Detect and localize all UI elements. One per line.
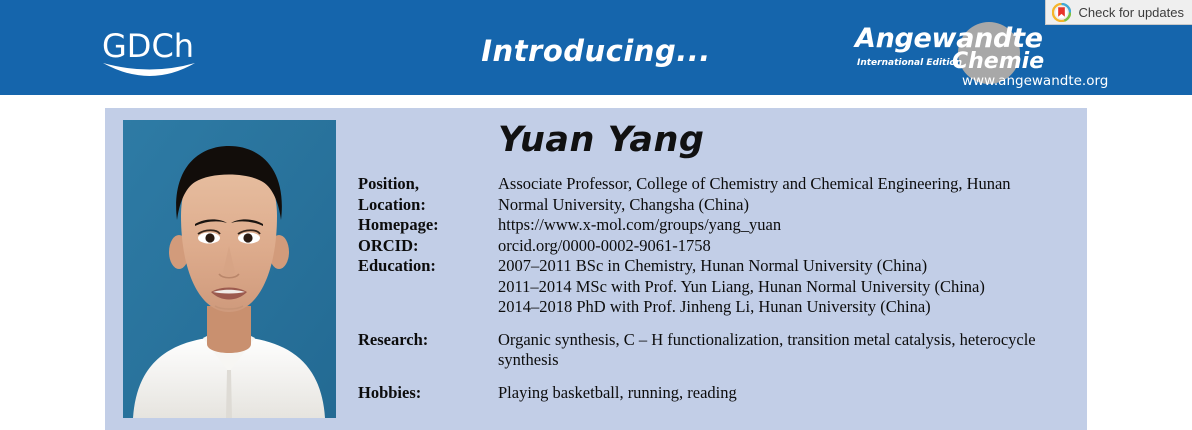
crossmark-icon: [1052, 3, 1071, 22]
detail-value: Associate Professor, College of Chemistr…: [498, 174, 1073, 195]
detail-value: https://www.x-mol.com/groups/yang_yuan: [498, 215, 1073, 236]
detail-value: Normal University, Changsha (China): [498, 195, 1073, 216]
detail-value-line: Organic synthesis, C – H functionalizati…: [498, 330, 1073, 351]
detail-label: Education:: [358, 256, 498, 277]
check-for-updates-badge[interactable]: Check for updates: [1045, 0, 1192, 25]
row-spacer: [358, 371, 1073, 383]
detail-value-line: Associate Professor, College of Chemistr…: [498, 174, 1073, 195]
angewandte-url[interactable]: www.angewandte.org: [962, 73, 1108, 89]
detail-row-homepage: Homepage: https://www.x-mol.com/groups/y…: [358, 215, 1073, 236]
detail-row-position: Position, Associate Professor, College o…: [358, 174, 1073, 195]
detail-row-orcid: ORCID: orcid.org/0000-0002-9061-1758: [358, 236, 1073, 257]
detail-value: Organic synthesis, C – H functionalizati…: [498, 330, 1073, 371]
orcid-link[interactable]: orcid.org/0000-0002-9061-1758: [498, 236, 1073, 257]
profile-card: Yuan Yang Position, Associate Professor,…: [105, 108, 1087, 430]
detail-value: Playing basketball, running, reading: [498, 383, 1073, 404]
person-name: Yuan Yang: [498, 120, 704, 160]
top-banner: GDCh Introducing... Angewandte Internati…: [0, 0, 1192, 95]
detail-value: orcid.org/0000-0002-9061-1758: [498, 236, 1073, 257]
portrait-photo: [123, 120, 336, 418]
profile-details: Position, Associate Professor, College o…: [358, 174, 1073, 403]
detail-value-line: 2014–2018 PhD with Prof. Jinheng Li, Hun…: [498, 297, 1073, 318]
detail-value-line: synthesis: [498, 350, 1073, 371]
check-for-updates-label: Check for updates: [1078, 5, 1184, 20]
row-spacer: [358, 318, 1073, 330]
detail-row-location: Location: Normal University, Changsha (C…: [358, 195, 1073, 216]
detail-row-education: Education: 2007–2011 BSc in Chemistry, H…: [358, 256, 1073, 318]
detail-value: 2007–2011 BSc in Chemistry, Hunan Normal…: [498, 256, 1073, 318]
detail-label: Position,: [358, 174, 498, 195]
detail-label: Research:: [358, 330, 498, 351]
detail-label: ORCID:: [358, 236, 498, 257]
detail-row-research: Research: Organic synthesis, C – H funct…: [358, 330, 1073, 371]
detail-row-hobbies: Hobbies: Playing basketball, running, re…: [358, 383, 1073, 404]
angewandte-logo: Angewandte International Edition Chemie …: [855, 20, 1095, 92]
detail-value-line: Normal University, Changsha (China): [498, 195, 1073, 216]
angewandte-edition-label: International Edition: [857, 58, 962, 68]
angewandte-wordmark-line2: Chemie: [952, 49, 1044, 74]
detail-value-line: 2011–2014 MSc with Prof. Yun Liang, Huna…: [498, 277, 1073, 298]
detail-label: Homepage:: [358, 215, 498, 236]
detail-value-line: Playing basketball, running, reading: [498, 383, 1073, 404]
detail-label: Location:: [358, 195, 498, 216]
detail-value-line: 2007–2011 BSc in Chemistry, Hunan Normal…: [498, 256, 1073, 277]
detail-label: Hobbies:: [358, 383, 498, 404]
homepage-link[interactable]: https://www.x-mol.com/groups/yang_yuan: [498, 215, 1073, 236]
